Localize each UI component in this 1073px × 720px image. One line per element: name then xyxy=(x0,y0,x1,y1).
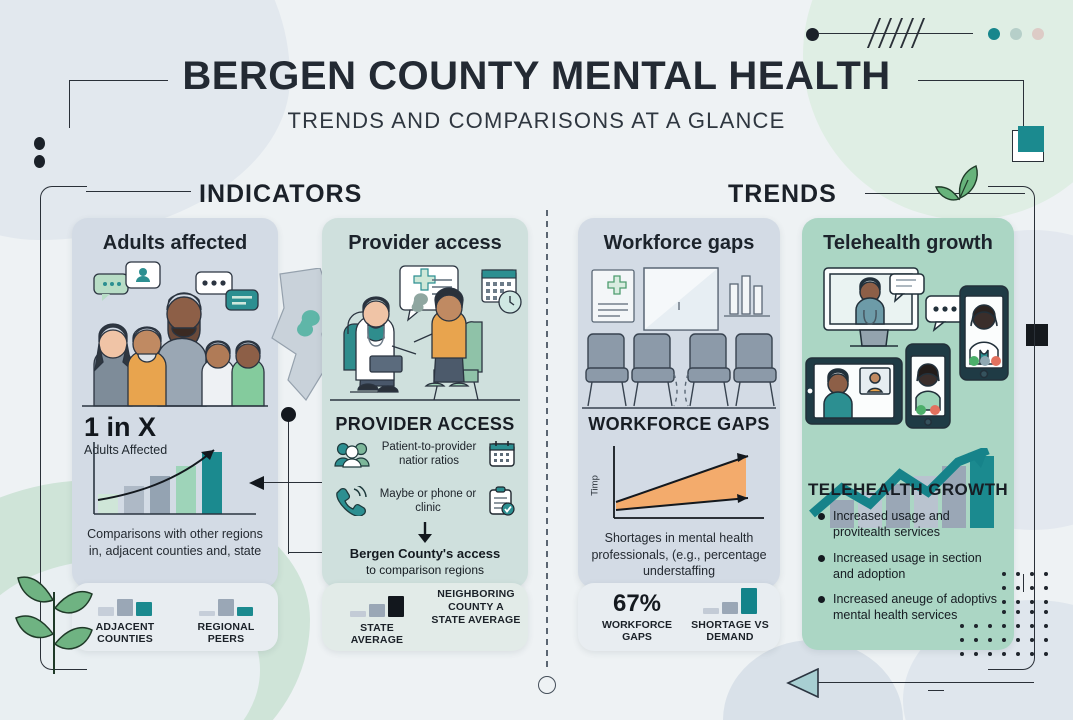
phone-icon xyxy=(335,486,369,516)
decor-tick-bottom-right xyxy=(1023,574,1024,592)
decor-dot-sage xyxy=(1010,28,1022,40)
list-item: Increased usage and provitealth services xyxy=(818,508,1002,541)
stat-one-in-x: 1 in X xyxy=(84,414,266,441)
infographic-canvas: BERGEN COUNTY MENTAL HEALTH TRENDS AND C… xyxy=(0,0,1073,720)
card-title: Provider access xyxy=(322,218,528,255)
card-subtitle: TELEHEALTH GROWTH xyxy=(802,480,1014,500)
card-subtitle: PROVIDER ACCESS xyxy=(322,414,528,435)
card-workforce-gaps[interactable]: Workforce gaps xyxy=(578,218,780,588)
provider-row-2-text: Maybe or phone or clinic xyxy=(376,487,480,516)
legend-bars xyxy=(350,593,404,617)
card-note: Comparisons with other regions in, adjac… xyxy=(86,526,264,559)
legend-label: NEIGHBORING COUNTY A STATE AVERAGE xyxy=(430,588,522,627)
chart-y-label: Timp xyxy=(590,469,601,503)
list-item-label: Increased usage in section and adoption xyxy=(833,550,1002,583)
decor-dot-left-upper xyxy=(34,137,45,150)
leaf-icon-bottom-left xyxy=(8,548,100,678)
decor-line-indicators xyxy=(86,191,191,192)
card-title: Telehealth growth xyxy=(802,218,1014,255)
card-subtitle: WORKFORCE GAPS xyxy=(578,414,780,435)
arrowhead-left xyxy=(248,474,266,492)
page-title: BERGEN COUNTY MENTAL HEALTH xyxy=(0,54,1073,99)
provider-row-1: Patient-to-provider natior ratios xyxy=(330,440,520,469)
arrowhead-left-bottom xyxy=(786,668,820,698)
calendar-icon xyxy=(488,440,516,468)
stat-value: 67% xyxy=(592,592,682,616)
decor-dot-left-lower xyxy=(34,155,45,168)
chart-panel-adults: 1 in X Adults Affected xyxy=(84,414,266,522)
legend-bars xyxy=(199,592,253,616)
illustration-waiting-room xyxy=(578,262,780,412)
clipboard-check-icon xyxy=(487,486,515,516)
legend-label: STATE AVERAGE xyxy=(338,622,416,646)
card-note: Shortages in mental health professionals… xyxy=(590,530,768,580)
legend-neighboring-county: NEIGHBORING COUNTY A STATE AVERAGE xyxy=(430,588,522,627)
illustration-doctor-patient xyxy=(322,260,528,412)
provider-callout-strong: Bergen County's access xyxy=(350,546,500,561)
provider-callout-sub: to comparison regions xyxy=(332,563,518,579)
legend-state-average: STATE AVERAGE xyxy=(338,593,416,646)
list-item-label: Increased usage and provitealth services xyxy=(833,508,1002,541)
card-adults-affected[interactable]: Adults affected xyxy=(72,218,278,588)
decor-dot-teal xyxy=(988,28,1000,40)
decor-tick-bottom-left xyxy=(928,690,944,691)
legend-regional-peers: REGIONAL PEERS xyxy=(186,592,266,645)
legend-bars xyxy=(98,592,152,616)
down-arrow-icon xyxy=(416,522,434,544)
provider-row-2: Maybe or phone or clinic xyxy=(330,486,520,516)
section-label-trends: TRENDS xyxy=(728,180,837,209)
bullet-dot-icon xyxy=(818,513,825,520)
connector-line-vertical xyxy=(288,414,289,554)
illustration-telehealth-devices xyxy=(802,260,1014,460)
bullet-dot-icon xyxy=(818,596,825,603)
card-title: Adults affected xyxy=(72,218,278,255)
card-provider-access[interactable]: Provider access xyxy=(322,218,528,588)
stat-workforce: 67% WORKFORCE GAPS xyxy=(592,592,682,643)
page-subtitle: TRENDS AND COMPARISONS AT A GLANCE xyxy=(0,108,1073,134)
connector-dot xyxy=(281,407,296,422)
bar-chart-adults xyxy=(84,442,266,522)
bullet-dot-icon xyxy=(818,555,825,562)
list-item: Increased usage in section and adoption xyxy=(818,550,1002,583)
connector-line-provider-to-adults xyxy=(256,482,328,483)
card-title: Workforce gaps xyxy=(578,218,780,255)
legend-label: REGIONAL PEERS xyxy=(186,621,266,645)
people-icon xyxy=(334,440,370,468)
legend-bars xyxy=(703,590,757,614)
decor-dot-rose xyxy=(1032,28,1044,40)
leaf-icon-top xyxy=(928,160,988,202)
section-label-indicators: INDICATORS xyxy=(199,180,362,209)
decor-hatch-marks xyxy=(873,18,939,48)
stat-label: WORKFORCE GAPS xyxy=(592,619,682,643)
legend-shortage-vs-demand: SHORTAGE VS DEMAND xyxy=(690,590,770,643)
legend-label: SHORTAGE VS DEMAND xyxy=(690,619,770,643)
illustration-people-group xyxy=(72,258,278,410)
section-divider xyxy=(546,210,548,670)
decor-dot-grid xyxy=(960,600,1060,690)
chart-panel-workforce: Timp xyxy=(588,440,770,530)
divider-end-circle xyxy=(538,676,556,694)
provider-row-1-text: Patient-to-provider natior ratios xyxy=(377,440,481,469)
decor-dot-black xyxy=(806,28,819,41)
card-telehealth-growth[interactable]: Telehealth growth xyxy=(802,218,1014,650)
provider-callout: Bergen County's access to comparison reg… xyxy=(332,546,518,578)
area-chart-workforce xyxy=(588,440,770,530)
